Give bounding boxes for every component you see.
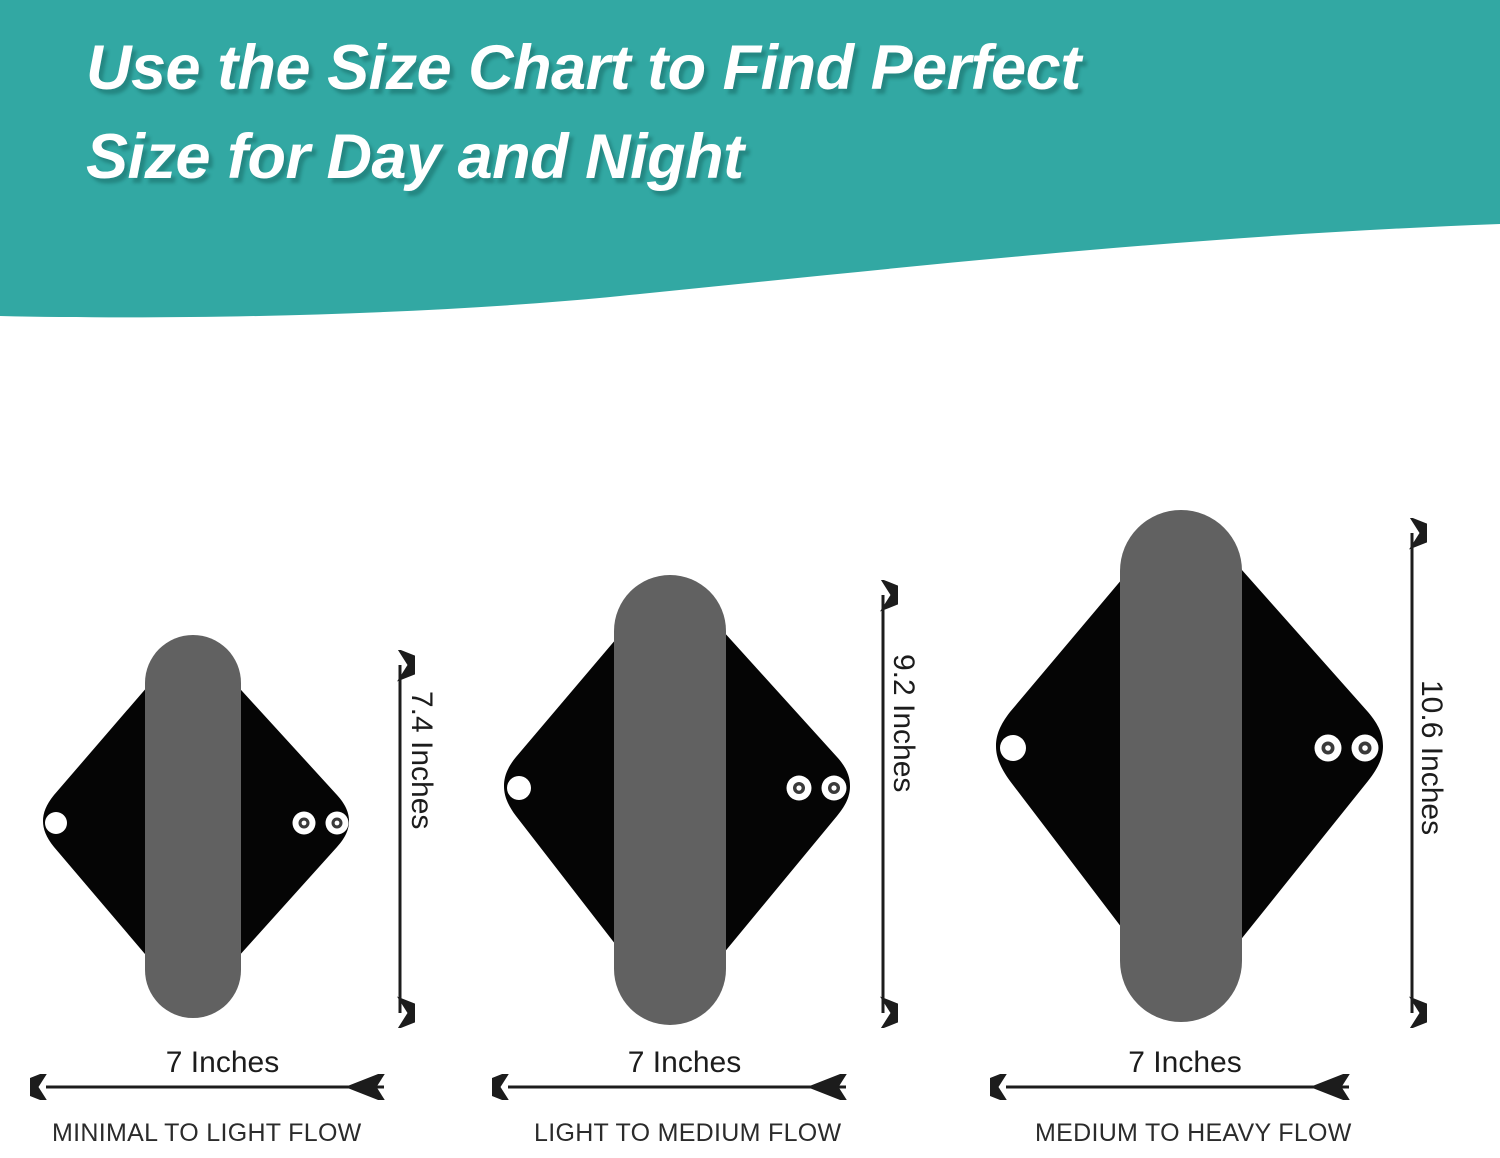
pad-caption-medium-to-heavy: MEDIUM TO HEAVY FLOW	[1035, 1119, 1352, 1148]
width-dimension-arrow-small	[30, 1074, 400, 1100]
snap-button-icon	[507, 776, 531, 800]
pad-large-svg	[985, 510, 1395, 1030]
snap-button-icon	[45, 812, 67, 834]
pad-caption-minimal-to-light: MINIMAL TO LIGHT FLOW	[52, 1119, 362, 1148]
pad-illustration-large	[985, 510, 1395, 1030]
pad-small-svg	[32, 635, 362, 1030]
height-label-small: 7.4 Inches	[404, 691, 438, 829]
pad-card-minimal-to-light: 7.4 Inches 7 Inches MINIMAL TO LIGHT FLO…	[20, 618, 440, 1158]
pad-core-strip	[145, 635, 241, 1018]
width-dimension-arrow-large	[990, 1074, 1365, 1100]
pad-illustration-medium	[492, 575, 862, 1030]
pad-card-medium-to-heavy: 10.6 Inches 7 Inches MEDIUM TO HEAVY FLO…	[985, 518, 1455, 1158]
pad-core-strip	[1120, 510, 1242, 1022]
pad-medium-svg	[492, 575, 862, 1030]
pad-illustration-small	[32, 635, 362, 1030]
width-dimension-arrow-medium	[492, 1074, 862, 1100]
pad-core-strip	[614, 575, 726, 1025]
snap-button-icon	[1000, 735, 1026, 761]
pad-caption-light-to-medium: LIGHT TO MEDIUM FLOW	[534, 1119, 841, 1148]
height-label-medium: 9.2 Inches	[886, 654, 920, 792]
header-banner: Use the Size Chart to Find Perfect Size …	[0, 0, 1500, 340]
height-dimension-arrow-medium	[868, 580, 898, 1028]
pad-card-light-to-medium: 9.2 Inches 7 Inches LIGHT TO MEDIUM FLOW	[490, 578, 910, 1158]
page-title: Use the Size Chart to Find Perfect Size …	[86, 24, 1446, 203]
size-chart-pads-area: 7.4 Inches 7 Inches MINIMAL TO LIGHT FLO…	[0, 340, 1500, 1158]
height-label-large: 10.6 Inches	[1414, 680, 1448, 835]
